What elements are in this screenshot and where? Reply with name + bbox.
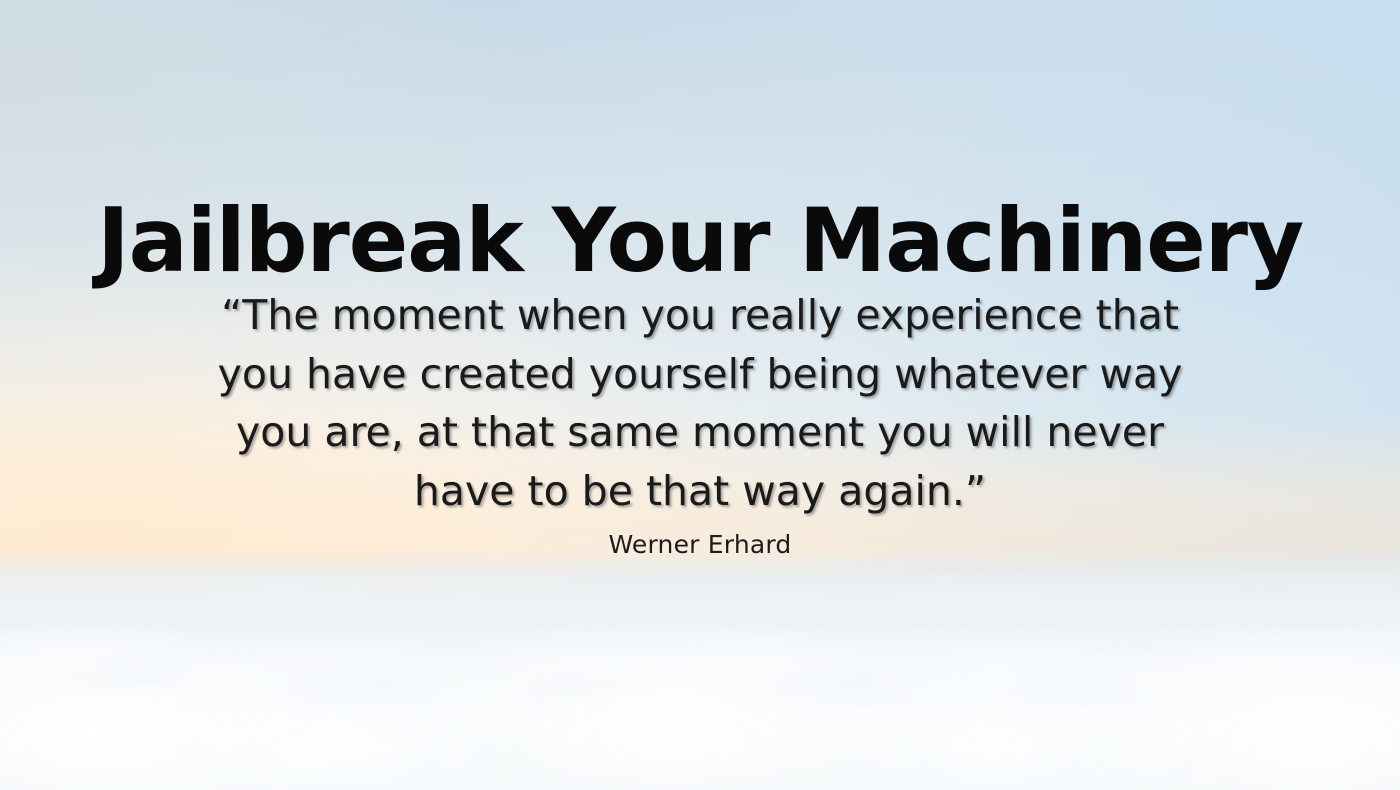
quote-attribution: Werner Erhard [0, 530, 1400, 559]
quote-slide: Jailbreak Your Machinery “The moment whe… [0, 0, 1400, 790]
page-title: Jailbreak Your Machinery [0, 195, 1400, 287]
quote-line: “The moment when you really experience t… [195, 286, 1205, 345]
quote-line: you have created yourself being whatever… [195, 345, 1205, 404]
text-layer: Jailbreak Your Machinery “The moment whe… [0, 0, 1400, 790]
quote-line: have to be that way again.” [195, 462, 1205, 521]
quote-block: “The moment when you really experience t… [195, 286, 1205, 520]
quote-line: you are, at that same moment you will ne… [195, 403, 1205, 462]
